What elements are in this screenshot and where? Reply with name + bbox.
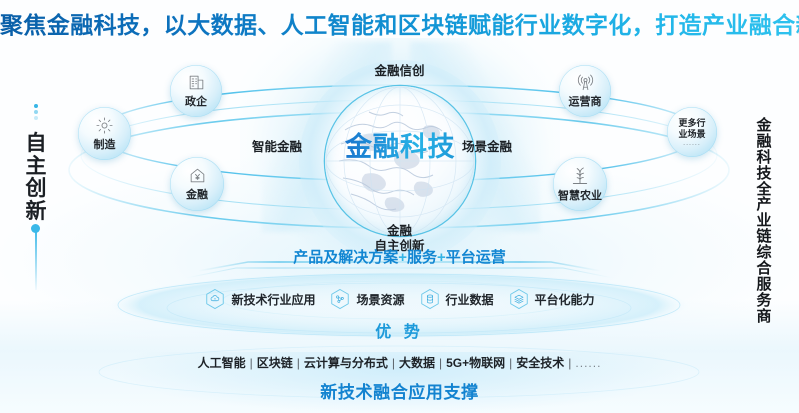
infographic-canvas: 聚焦金融科技，以大数据、人工智能和区块链赋能行业数字化，打造产业融合新生态 自 … (0, 0, 799, 413)
advantage-item-label: 行业数据 (446, 291, 494, 308)
product-plus-1: + (398, 249, 407, 266)
advantage-item-label: 场景资源 (356, 291, 404, 308)
ellipsis-icon: ...... (683, 140, 701, 147)
advantage-item-3[interactable]: 行业数据 (419, 288, 494, 310)
advantage-item-2[interactable]: 场景资源 (329, 288, 404, 310)
tech-separator: | (392, 356, 395, 370)
tech-item-2: 区块链 (257, 356, 293, 370)
tech-item-4: 大数据 (399, 356, 435, 370)
product-part-2: 服务 (407, 249, 437, 266)
industry-bubble-label: 更多行业场景 (678, 118, 705, 139)
network-hex-icon (329, 288, 351, 310)
product-plus-2: + (437, 249, 446, 266)
advantage-item-label: 新技术行业应用 (231, 291, 315, 308)
technology-list: 人工智能|区块链|云计算与分布式|大数据|5G+物联网|安全技术|...... (0, 354, 799, 371)
industry-bubble-6[interactable]: 智慧农业 (553, 157, 607, 211)
database-hex-icon (419, 288, 441, 310)
advantage-item-1[interactable]: 新技术行业应用 (204, 288, 315, 310)
tech-ellipsis: ...... (575, 356, 601, 370)
bank-yen-icon (188, 166, 207, 185)
advantage-section-title: 优 势 (0, 318, 799, 342)
tech-separator: | (568, 356, 571, 370)
quadrant-label-top: 金融信创 (0, 60, 799, 79)
tech-separator: | (439, 356, 442, 370)
advantage-item-label: 平台化能力 (535, 291, 595, 308)
industry-bubble-label: 制造 (94, 136, 116, 152)
product-part-1: 产品及解决方案 (293, 249, 398, 266)
product-line: 产品及解决方案+服务+平台运营 (0, 246, 799, 267)
industry-bubble-label: 金融 (186, 186, 208, 202)
product-part-3: 平台运营 (446, 249, 506, 266)
industry-bubble-label: 运营商 (569, 93, 602, 109)
tech-separator: | (509, 356, 512, 370)
industry-bubble-3[interactable]: 金融 (170, 157, 224, 211)
industry-bubble-5[interactable]: 更多行业场景...... (667, 107, 717, 157)
tech-item-3: 云计算与分布式 (304, 356, 388, 370)
gear-icon (95, 116, 114, 135)
layers-hex-icon (508, 288, 530, 310)
industry-bubble-2[interactable]: 制造 (78, 107, 131, 160)
cloud-hex-icon (204, 288, 226, 310)
industry-bubble-label: 政企 (185, 93, 207, 109)
tech-item-6: 安全技术 (516, 356, 564, 370)
industry-bubble-label: 智慧农业 (558, 187, 602, 203)
tech-item-1: 人工智能 (198, 356, 246, 370)
quadrant-label-left: 智能金融 (252, 136, 302, 155)
quadrant-label-bottom-line1: 金融 (0, 224, 799, 239)
bottom-section-title: 新技术融合应用支撑 (0, 378, 799, 403)
advantage-item-4[interactable]: 平台化能力 (508, 288, 595, 310)
tech-item-5: 5G+物联网 (446, 356, 505, 370)
smart-farm-icon (570, 166, 590, 186)
quadrant-label-right: 场景金融 (462, 136, 512, 155)
tech-separator: | (297, 356, 300, 370)
globe-center-label: 金融科技 (325, 125, 475, 164)
tech-separator: | (250, 356, 253, 370)
advantage-row: 新技术行业应用场景资源行业数据平台化能力 (0, 288, 799, 310)
